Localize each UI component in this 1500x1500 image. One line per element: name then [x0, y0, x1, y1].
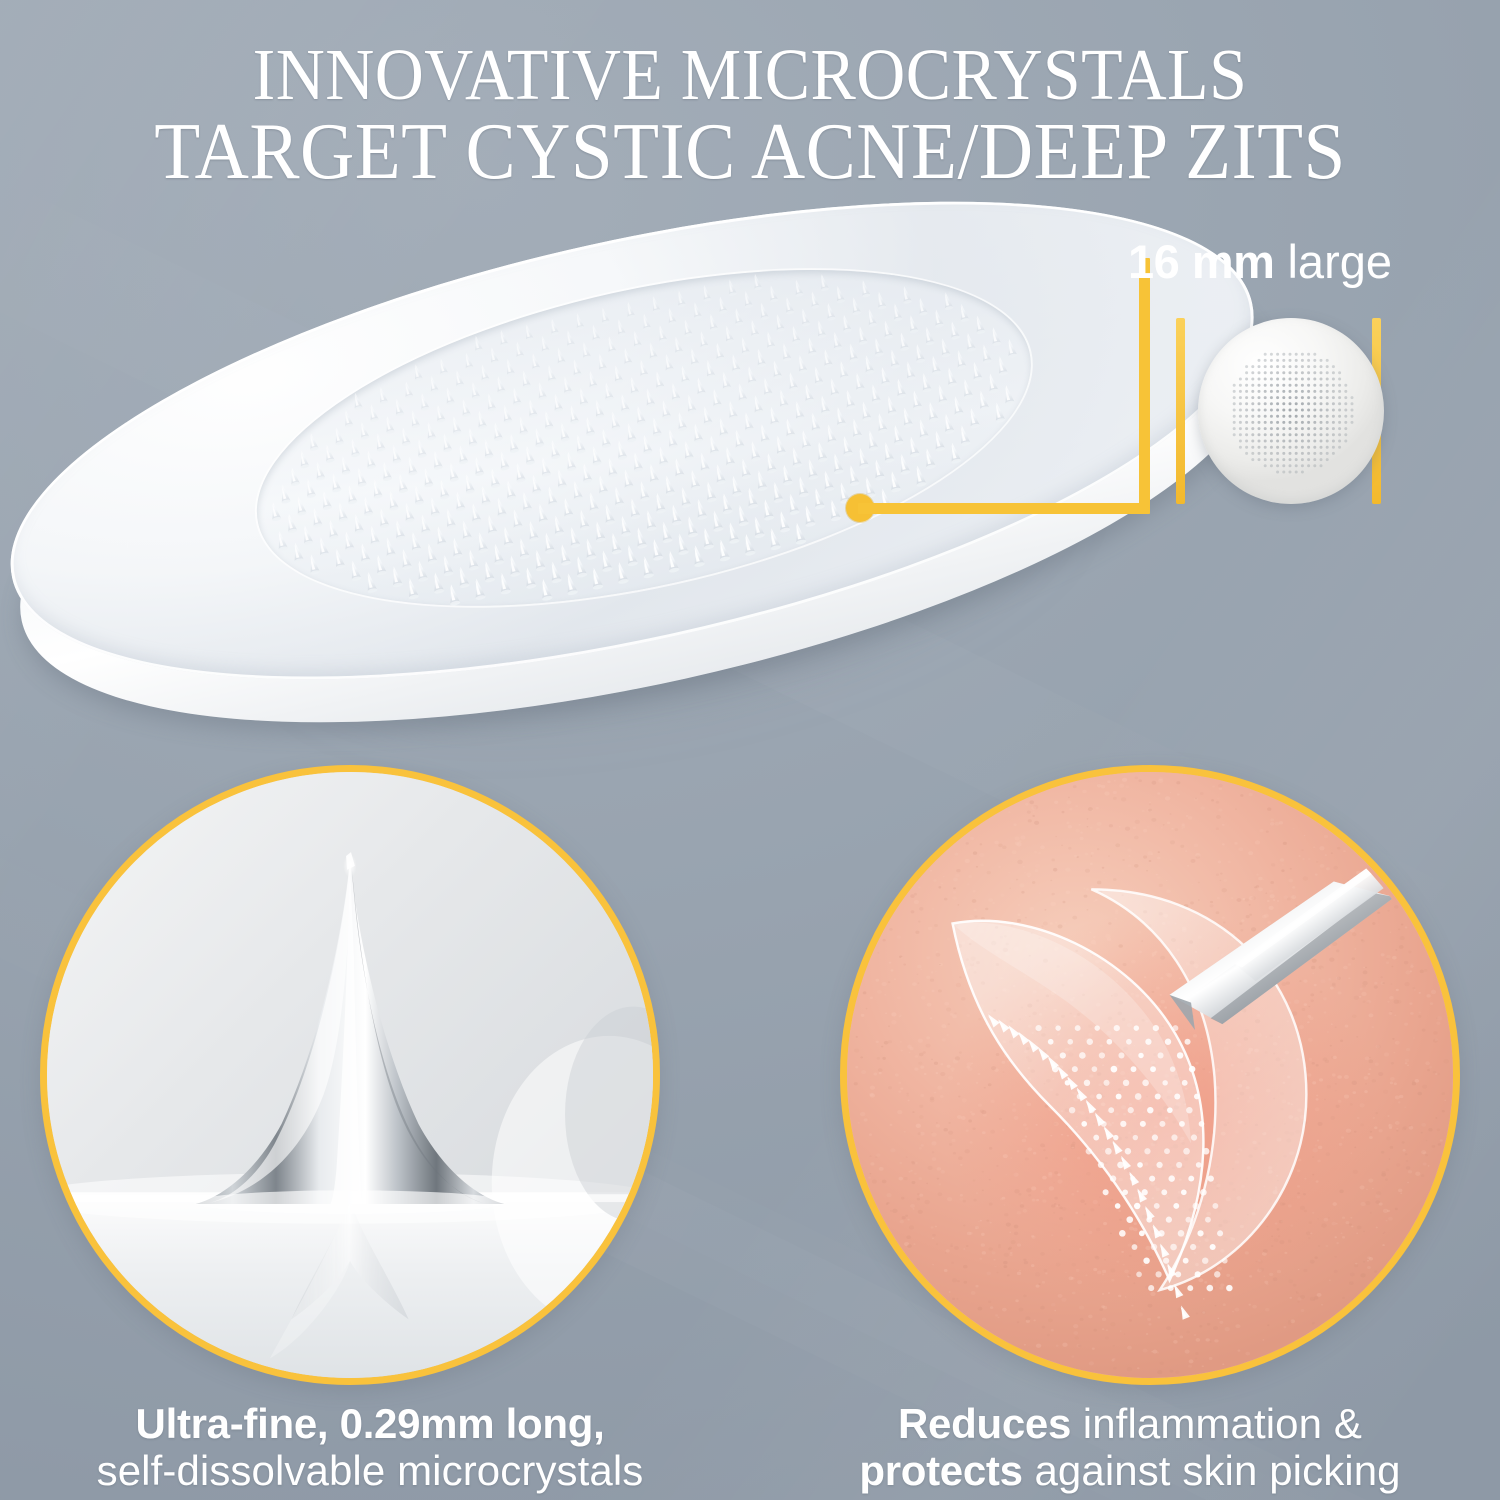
caption-left-line-1: Ultra-fine, 0.29mm long, — [10, 1402, 730, 1447]
feature-image-microcrystal-cone — [40, 765, 660, 1385]
patch-top-view-icon — [1198, 318, 1384, 504]
headline: INNOVATIVE MICROCRYSTALS TARGET CYSTIC A… — [0, 40, 1500, 191]
caption-right-line-2: protects against skin picking — [770, 1449, 1490, 1494]
leader-line-horizontal — [858, 503, 1150, 514]
size-callout-value: 16 mm — [1128, 235, 1274, 288]
leader-line-vertical — [1139, 258, 1150, 508]
dot-grid-svg — [1225, 345, 1357, 477]
infographic-canvas: INNOVATIVE MICROCRYSTALS TARGET CYSTIC A… — [0, 0, 1500, 1500]
caption-right: Reduces inflammation & protects against … — [770, 1402, 1490, 1493]
headline-line-2: TARGET CYSTIC ACNE/DEEP ZITS — [45, 114, 1455, 191]
feature-image-patch-on-skin — [840, 765, 1460, 1385]
size-callout-unit-word: large — [1287, 235, 1392, 288]
cone-closeup-svg — [47, 772, 653, 1378]
patch-top-view-dot-grid — [1225, 345, 1357, 477]
measure-tick-left — [1176, 318, 1185, 504]
caption-left-line-2: self-dissolvable microcrystals — [10, 1449, 730, 1494]
headline-line-1: INNOVATIVE MICROCRYSTALS — [53, 40, 1448, 110]
size-callout-label: 16 mm large — [1128, 238, 1392, 285]
caption-right-line-1: Reduces inflammation & — [770, 1402, 1490, 1447]
caption-left: Ultra-fine, 0.29mm long, self-dissolvabl… — [10, 1402, 730, 1493]
patch-and-tweezers-svg — [847, 772, 1453, 1378]
